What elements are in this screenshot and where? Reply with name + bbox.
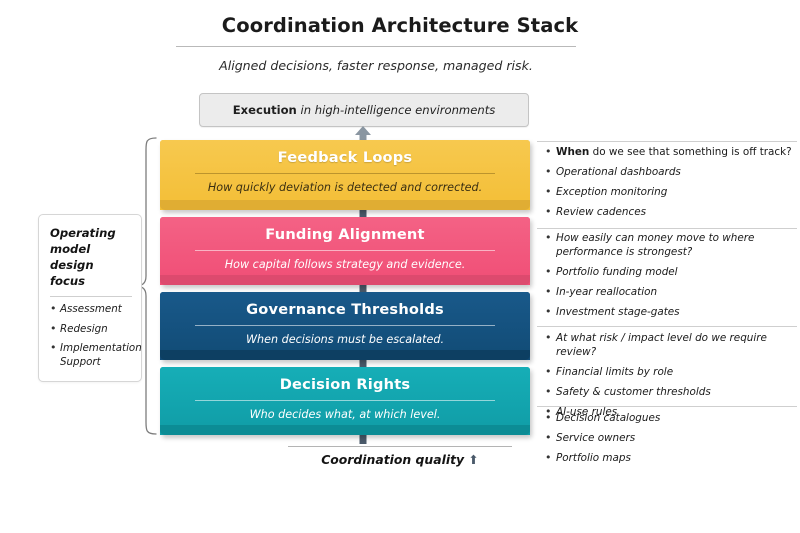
diagram-canvas: Coordination Architecture Stack Aligned …	[0, 0, 800, 533]
operating-model-panel: Operating model design focus Assessment …	[38, 214, 142, 382]
list-item: Service owners	[545, 432, 797, 446]
annotation-lead: At what risk / impact level do we requir…	[545, 332, 797, 359]
list-item: Operational dashboards	[545, 166, 797, 180]
list-item: Decision catalogues	[545, 412, 797, 426]
annotation-lead: When do we see that something is off tra…	[545, 146, 797, 160]
list-item: Investment stage-gates	[545, 306, 797, 320]
list-item: Exception monitoring	[545, 186, 797, 200]
annotation-group-funding: How easily can money move to where perfo…	[545, 232, 797, 326]
layer-divider	[195, 173, 495, 174]
footer-divider	[288, 446, 512, 447]
layer-title: Decision Rights	[160, 376, 530, 393]
annotation-divider	[537, 141, 797, 142]
layer-caption: How capital follows strategy and evidenc…	[160, 258, 530, 271]
layer-divider	[195, 400, 495, 401]
up-arrow-icon: ⬆	[468, 452, 478, 467]
list-item: Portfolio maps	[545, 452, 797, 466]
layer-edge	[160, 200, 530, 210]
annotation-divider	[537, 406, 797, 407]
list-item: In-year reallocation	[545, 286, 797, 300]
annotation-divider	[537, 326, 797, 327]
layer-edge	[160, 425, 530, 435]
operating-model-title: Operating model design focus	[50, 225, 132, 289]
layer-divider	[195, 250, 495, 251]
title-divider	[176, 46, 576, 47]
annotation-group-feedback: When do we see that something is off tra…	[545, 146, 797, 226]
annotation-list: How easily can money move to where perfo…	[545, 232, 797, 319]
operating-model-list: Assessment Redesign Implementation Suppo…	[50, 303, 132, 369]
list-item: Assessment	[50, 303, 132, 317]
list-item: Portfolio funding model	[545, 266, 797, 280]
operating-model-divider	[50, 296, 132, 297]
execution-label: Execution	[233, 103, 297, 117]
annotation-list: Decision catalogues Service owners Portf…	[545, 412, 797, 466]
page-title: Coordination Architecture Stack	[0, 14, 800, 37]
list-item: Implementation Support	[50, 342, 132, 369]
page-subtitle: Aligned decisions, faster response, mana…	[176, 58, 576, 73]
annotation-lead-rest: do we see that something is off track?	[589, 146, 791, 158]
layer-edge	[160, 350, 530, 360]
annotation-group-decision: Decision catalogues Service owners Portf…	[545, 412, 797, 472]
layer-caption: When decisions must be escalated.	[160, 333, 530, 346]
layer-governance-thresholds[interactable]: Governance Thresholds When decisions mus…	[160, 292, 530, 360]
layer-feedback-loops[interactable]: Feedback Loops How quickly deviation is …	[160, 140, 530, 210]
annotation-lead-bold: When	[556, 146, 589, 158]
layer-divider	[195, 325, 495, 326]
list-item: Review cadences	[545, 206, 797, 220]
layer-caption: Who decides what, at which level.	[160, 408, 530, 421]
annotation-list: When do we see that something is off tra…	[545, 146, 797, 220]
annotation-lead: How easily can money move to where perfo…	[545, 232, 797, 259]
execution-capstone-text: Execution in high-intelligence environme…	[233, 103, 496, 117]
layer-caption: How quickly deviation is detected and co…	[160, 181, 530, 194]
layer-decision-rights[interactable]: Decision Rights Who decides what, at whi…	[160, 367, 530, 435]
layer-title: Funding Alignment	[160, 226, 530, 243]
execution-detail: in high-intelligence environments	[297, 103, 495, 117]
layer-edge	[160, 275, 530, 285]
layer-title: Feedback Loops	[160, 149, 530, 166]
execution-capstone: Execution in high-intelligence environme…	[199, 93, 529, 127]
list-item: Financial limits by role	[545, 366, 797, 380]
coordination-quality-label: Coordination quality ⬆	[248, 452, 552, 467]
annotation-divider	[537, 228, 797, 229]
list-item: Safety & customer thresholds	[545, 386, 797, 400]
layer-funding-alignment[interactable]: Funding Alignment How capital follows st…	[160, 217, 530, 285]
coordination-quality-text: Coordination quality	[321, 452, 464, 467]
list-item: Redesign	[50, 323, 132, 337]
layer-title: Governance Thresholds	[160, 301, 530, 318]
